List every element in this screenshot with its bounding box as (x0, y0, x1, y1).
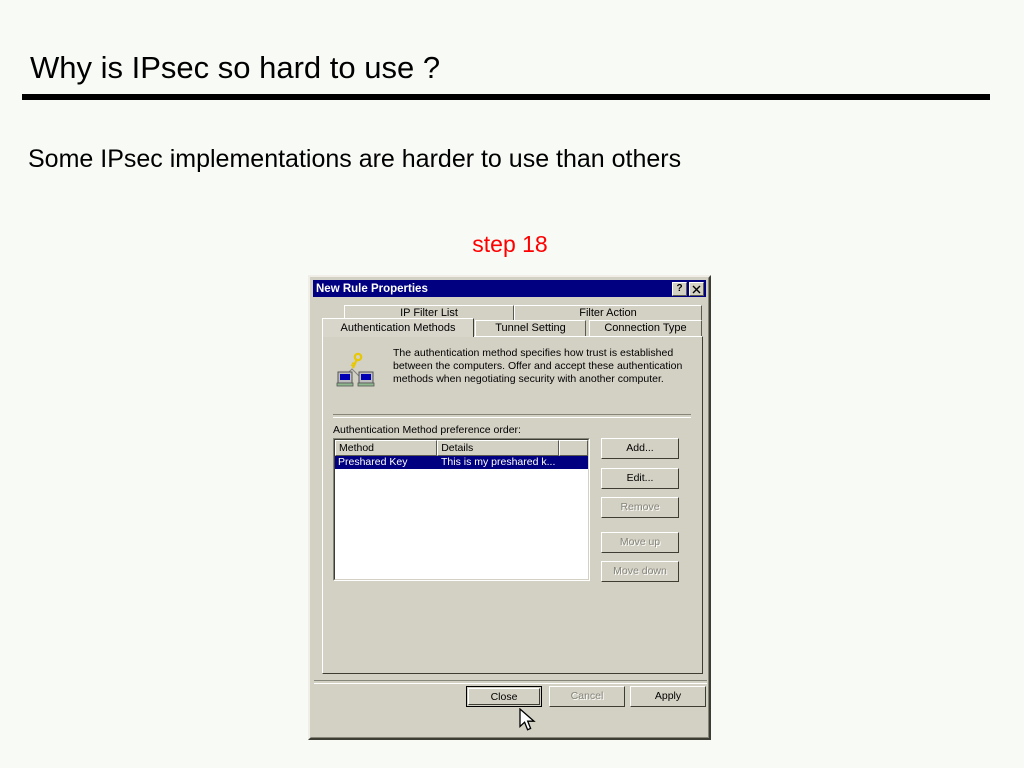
cell-method: Preshared Key (335, 456, 438, 469)
tab-page-authentication-methods: The authentication method specifies how … (322, 336, 703, 674)
description-separator (333, 414, 691, 418)
cell-details: This is my preshared k... (438, 456, 570, 469)
help-glyph: ? (673, 282, 686, 296)
close-icon[interactable] (689, 282, 704, 296)
listview-inner: Method Details Preshared Key This is my … (334, 439, 589, 580)
two-computers-with-key-icon (336, 352, 376, 388)
description-text: The authentication method specifies how … (393, 347, 691, 386)
dialog-inner-frame: New Rule Properties ? IP Filter List Fil… (310, 277, 709, 738)
footer-separator (314, 680, 707, 684)
page-title: Why is IPsec so hard to use ? (30, 50, 440, 86)
slide-bullet-text: Some IPsec implementations are harder to… (28, 145, 681, 174)
apply-button[interactable]: Apply (630, 686, 706, 707)
step-annotation-label: step 18 (308, 231, 712, 258)
listview-header-row: Method Details (335, 440, 588, 456)
help-icon[interactable]: ? (672, 282, 687, 296)
remove-button[interactable]: Remove (601, 497, 679, 518)
column-header-method[interactable]: Method (335, 440, 437, 456)
move-up-button[interactable]: Move up (601, 532, 679, 553)
cancel-button[interactable]: Cancel (549, 686, 625, 707)
add-button[interactable]: Add... (601, 438, 679, 459)
column-header-details[interactable]: Details (437, 440, 559, 456)
close-button-label: Close (468, 688, 540, 705)
close-x-glyph (692, 285, 701, 294)
move-down-button[interactable]: Move down (601, 561, 679, 582)
dialog-title-text: New Rule Properties (313, 283, 672, 295)
table-row[interactable]: Preshared Key This is my preshared k... (335, 456, 588, 469)
tab-strip-row-2: Authentication Methods Tunnel Setting Co… (322, 320, 703, 337)
authentication-methods-listview[interactable]: Method Details Preshared Key This is my … (333, 438, 590, 581)
list-label: Authentication Method preference order: (333, 424, 521, 436)
column-header-blank[interactable] (559, 440, 588, 456)
tab-connection-type[interactable]: Connection Type (589, 320, 702, 336)
new-rule-properties-dialog: New Rule Properties ? IP Filter List Fil… (308, 275, 711, 740)
description-block: The authentication method specifies how … (333, 347, 691, 409)
dialog-titlebar: New Rule Properties ? (313, 280, 706, 297)
tab-filter-action[interactable]: Filter Action (514, 305, 702, 321)
slide: Why is IPsec so hard to use ? Some IPsec… (0, 0, 1024, 768)
title-underline-rule (22, 94, 990, 100)
close-button[interactable]: Close (466, 686, 542, 707)
tab-tunnel-setting[interactable]: Tunnel Setting (475, 320, 586, 336)
tab-authentication-methods[interactable]: Authentication Methods (322, 318, 474, 337)
edit-button[interactable]: Edit... (601, 468, 679, 489)
